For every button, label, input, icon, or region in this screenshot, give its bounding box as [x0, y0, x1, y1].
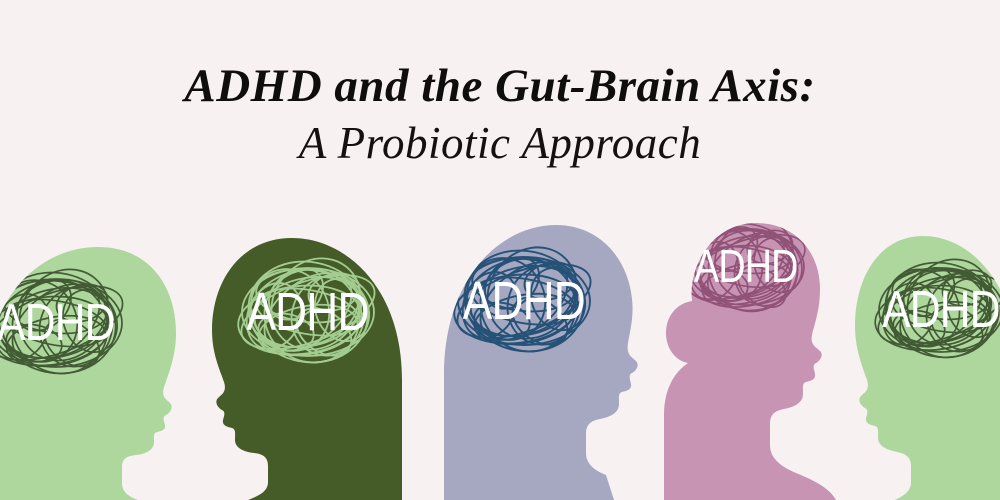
head-silhouette-2: ADHD: [196, 230, 411, 500]
title-line-2: A Probiotic Approach: [0, 114, 1000, 172]
head-label-2: ADHD: [246, 282, 368, 342]
head-silhouette-4: ADHD: [640, 215, 840, 500]
head-label-4: ADHD: [694, 240, 798, 291]
head-label-5: ADHD: [882, 281, 1000, 339]
head-silhouette-1: ADHD: [0, 235, 183, 500]
banner-title: ADHD and the Gut-Brain Axis: A Probiotic…: [0, 58, 1000, 172]
head-silhouette-3: ADHD: [432, 215, 652, 500]
head-label-1: ADHD: [0, 294, 115, 352]
head-silhouette-5: ADHD: [845, 230, 1000, 500]
head-label-3: ADHD: [463, 271, 585, 331]
hero-banner: ADHD: [0, 0, 1000, 500]
title-line-1: ADHD and the Gut-Brain Axis:: [0, 58, 1000, 114]
